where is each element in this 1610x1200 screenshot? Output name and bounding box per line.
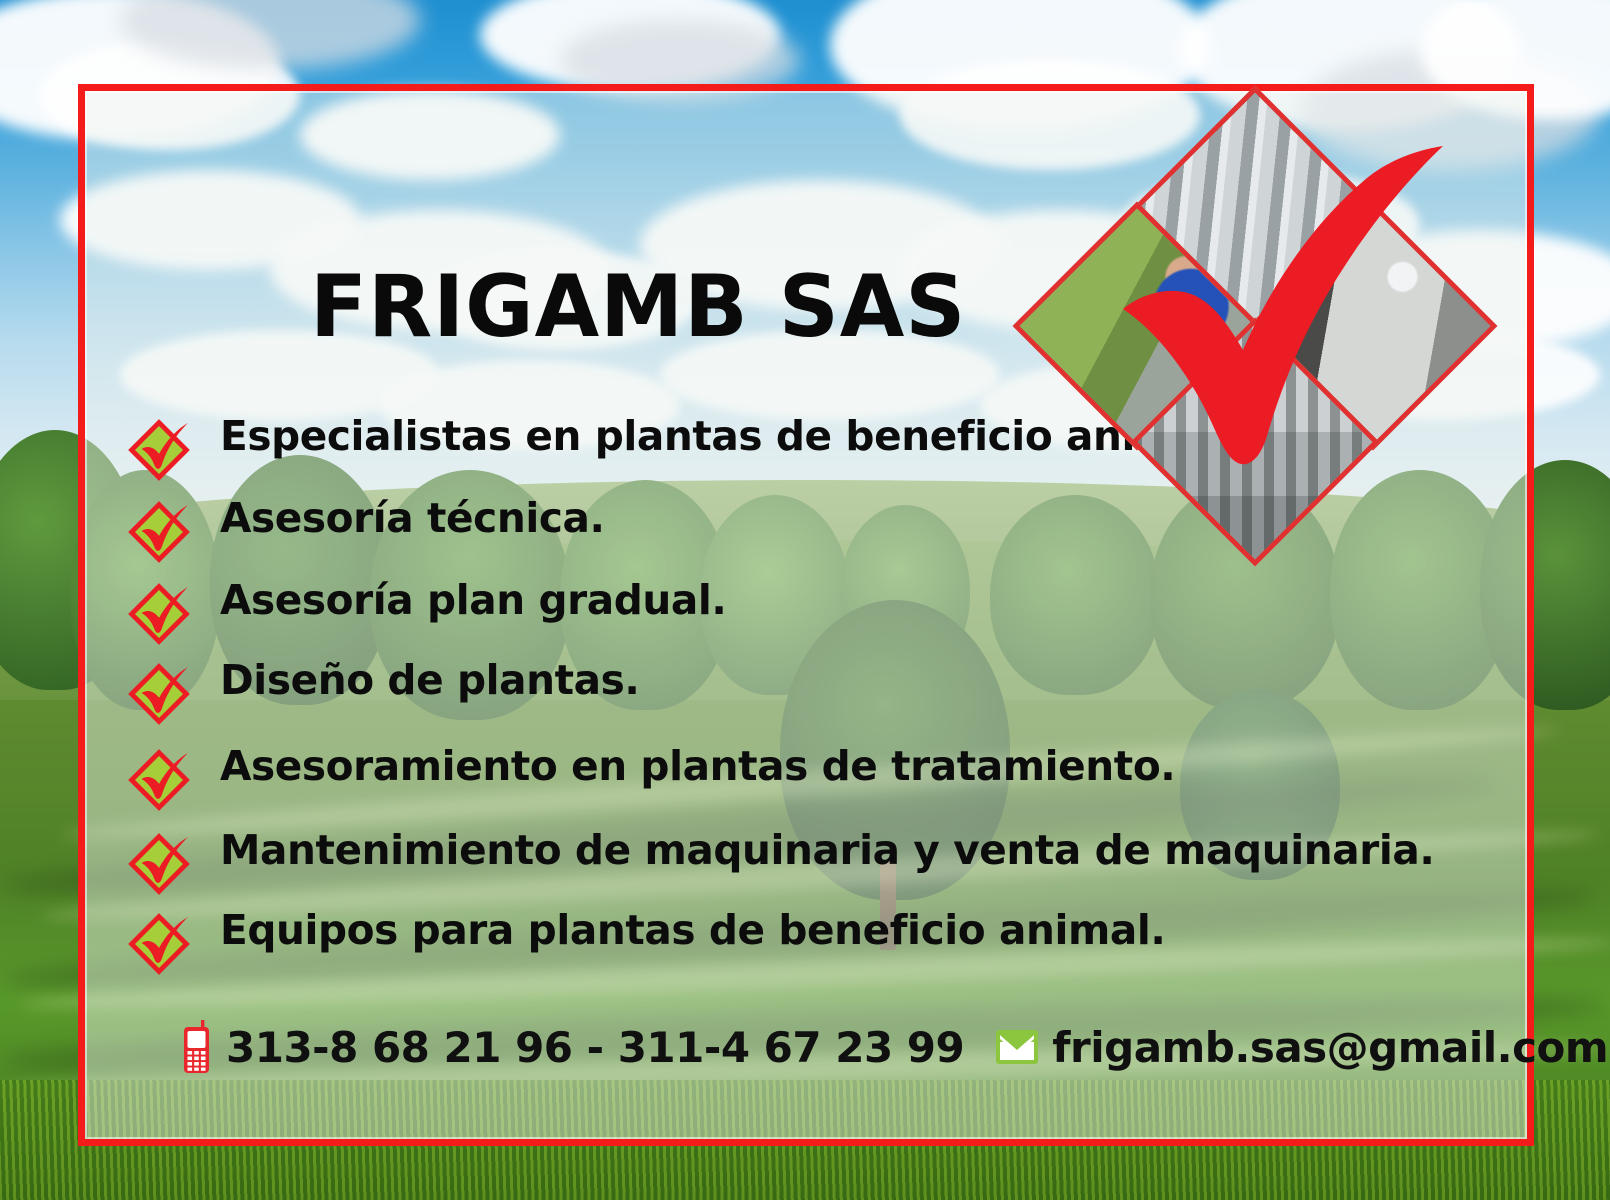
phone-numbers: 313-8 68 21 96 - 311-4 67 23 99	[226, 1023, 964, 1072]
red-check-mark-icon	[1117, 144, 1447, 474]
email-address: frigamb.sas@gmail.com	[1052, 1023, 1608, 1072]
list-item-label: Asesoramiento en plantas de tratamiento.	[220, 745, 1175, 788]
page-title: FRIGAMB SAS	[310, 264, 966, 350]
green-diamond-check-icon	[128, 663, 190, 725]
green-diamond-check-icon	[128, 419, 190, 481]
mobile-phone-icon	[182, 1020, 212, 1074]
list-item-label: Asesoría técnica.	[220, 497, 605, 540]
green-diamond-check-icon	[128, 583, 190, 645]
company-logo	[1055, 130, 1445, 510]
list-item: Mantenimiento de maquinaria y venta de m…	[128, 829, 1468, 909]
green-diamond-check-icon	[128, 833, 190, 895]
envelope-icon	[996, 1030, 1038, 1064]
list-item: Equipos para plantas de beneficio animal…	[128, 909, 1468, 984]
list-item-label: Diseño de plantas.	[220, 659, 639, 702]
list-item: Asesoramiento en plantas de tratamiento.	[128, 745, 1468, 829]
green-diamond-check-icon	[128, 501, 190, 563]
contact-bar: 313-8 68 21 96 - 311-4 67 23 99 frigamb.…	[182, 1020, 1608, 1074]
list-item: Asesoría plan gradual.	[128, 579, 1468, 659]
list-item-label: Asesoría plan gradual.	[220, 579, 726, 622]
green-diamond-check-icon	[128, 913, 190, 975]
list-item-label: Mantenimiento de maquinaria y venta de m…	[220, 829, 1434, 872]
list-item: Diseño de plantas.	[128, 659, 1468, 745]
list-item-label: Equipos para plantas de beneficio animal…	[220, 909, 1165, 952]
green-diamond-check-icon	[128, 749, 190, 811]
